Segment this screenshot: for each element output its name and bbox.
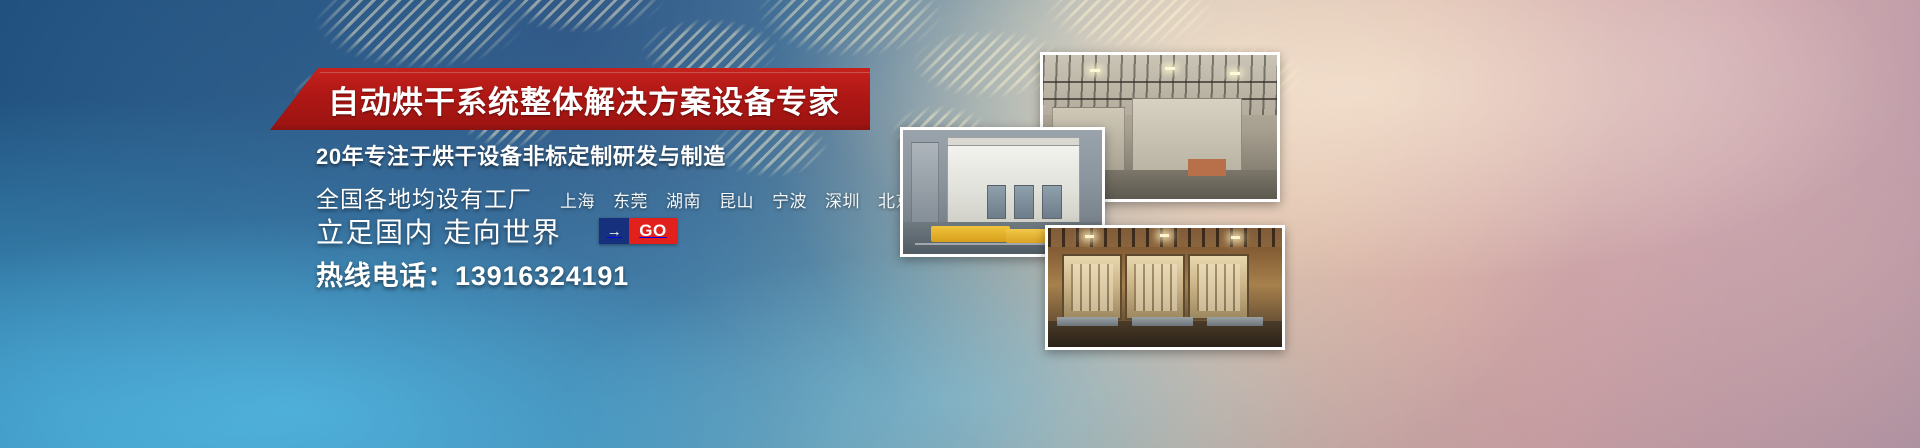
arrow-right-icon: → — [599, 218, 629, 244]
booth-door — [1042, 185, 1062, 219]
slogan-row: 立足国内 走向世界 → GO — [316, 211, 677, 251]
headline-text: 自动烘干系统整体解决方案设备专家 — [328, 68, 864, 130]
oven-panel — [1197, 264, 1240, 311]
promo-banner: 自动烘干系统整体解决方案设备专家 20年专注于烘干设备非标定制研发与制造 全国各… — [0, 0, 1920, 448]
ceiling-lamp — [1090, 69, 1100, 72]
oven-trolley — [1207, 317, 1263, 325]
photo-scene — [1048, 228, 1282, 347]
booth-door — [987, 185, 1007, 219]
drying-oven-unit — [1125, 254, 1185, 320]
oven-trolley — [1132, 317, 1193, 325]
ceiling-lamp — [1165, 67, 1175, 70]
photo-wooden-panel-drying-ovens — [1045, 225, 1285, 350]
factory-label: 全国各地均设有工厂 — [316, 180, 532, 214]
go-button-label: GO — [629, 218, 676, 244]
city-item-shenzhen: 深圳 — [825, 187, 860, 212]
factory-row: 全国各地均设有工厂 上海 东莞 湖南 昆山 宁波 深圳 北京 天津 — [316, 180, 966, 214]
city-item-hunan: 湖南 — [666, 187, 701, 212]
city-item-kunshan: 昆山 — [719, 187, 754, 212]
oven-trolley — [1057, 317, 1118, 325]
oven-panel — [1134, 264, 1177, 311]
headline-ribbon: 自动烘干系统整体解决方案设备专家 — [270, 68, 870, 130]
ceiling-lamp — [1230, 72, 1240, 75]
tagline-text: 20年专注于烘干设备非标定制研发与制造 — [316, 139, 726, 171]
city-item-shanghai: 上海 — [560, 187, 595, 212]
slogan-text: 立足国内 走向世界 — [316, 211, 561, 251]
oven-panel — [1071, 264, 1114, 311]
hotline-text: 热线电话：13916324191 — [316, 254, 629, 293]
ceiling-structure — [1048, 228, 1282, 247]
city-item-dongguan: 东莞 — [613, 187, 648, 212]
cargo-crate — [1188, 159, 1225, 176]
ceiling-lamp — [1160, 234, 1169, 237]
transfer-cart-yellow — [931, 226, 1011, 242]
ceiling-lamp — [1085, 235, 1094, 238]
go-button[interactable]: → GO — [599, 218, 676, 244]
steel-column — [911, 142, 939, 226]
roof-beam — [1043, 81, 1277, 83]
ceiling-lamp — [1231, 236, 1240, 239]
drying-oven-unit — [1188, 254, 1248, 320]
city-item-ningbo: 宁波 — [772, 187, 807, 212]
drying-oven-unit — [1062, 254, 1122, 320]
booth-door — [1014, 185, 1034, 219]
